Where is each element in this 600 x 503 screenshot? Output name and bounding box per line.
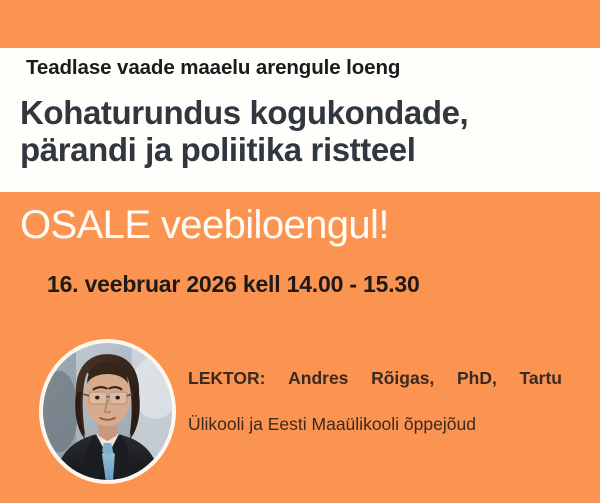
event-datetime: 16. veebruar 2026 kell 14.00 - 15.30: [47, 272, 587, 297]
lecturer-line-2: Ülikooli ja Eesti Maaülikooli õppejõud: [188, 413, 562, 436]
lecturer-line-1: LEKTOR: Andres Rõigas, PhD, Tartu: [188, 367, 562, 413]
lecturer-avatar: [39, 339, 176, 484]
lecturer-affiliation-start: Tartu: [520, 368, 562, 388]
lecturer-photo: [43, 343, 172, 480]
lecturer-info: LEKTOR: Andres Rõigas, PhD, Tartu Ülikoo…: [188, 367, 562, 436]
poster-headline: Kohaturundus kogukondade, pärandi ja pol…: [20, 94, 580, 169]
lecturer-label: LEKTOR:: [188, 368, 265, 388]
headline-line-2: pärandi ja poliitika ristteel: [20, 131, 580, 168]
event-poster: Teadlase vaade maaelu arengule loeng Koh…: [0, 0, 600, 503]
lecturer-degree: PhD,: [457, 368, 497, 388]
headline-line-1: Kohaturundus kogukondade,: [20, 94, 580, 131]
call-to-action-text: OSALE veebiloengul!: [20, 203, 580, 247]
lecturer-name: Andres Rõigas,: [288, 368, 434, 388]
portrait-illustration: [43, 343, 172, 480]
poster-subtitle: Teadlase vaade maaelu arengule loeng: [26, 57, 566, 80]
